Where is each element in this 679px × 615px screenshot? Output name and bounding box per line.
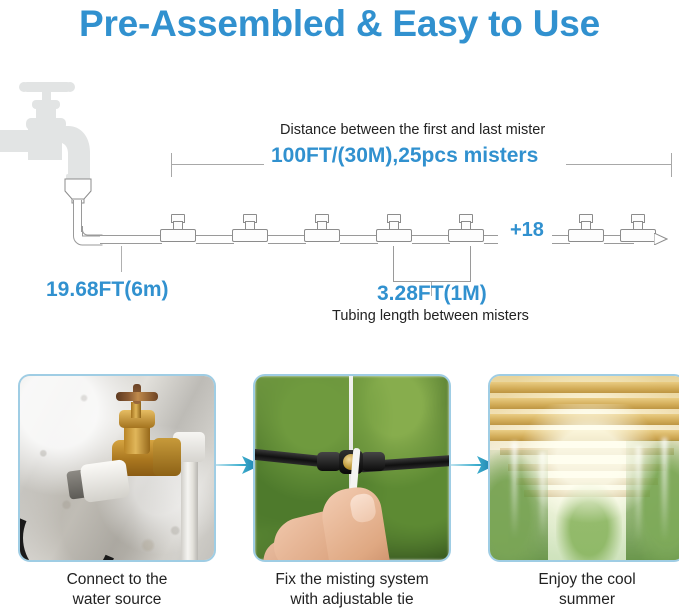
extra-misters-label: +18 [510,219,544,242]
photo-fix-misting-system [253,374,451,562]
dimension-tick-right [671,153,672,177]
photo-connect-water-source [18,374,216,562]
inlet-length-value: 19.68FT(6m) [46,278,169,302]
step-caption-3: Enjoy the cool summer [488,570,679,610]
dimension-tick-left [171,153,172,177]
mister-nozzle [568,212,604,242]
steps-row: Connect to the water source [0,374,679,615]
dimension-line-right [566,164,672,165]
step-caption-2-line1: Fix the misting system [253,570,451,590]
leader-line-left [121,246,122,272]
mister-nozzle [448,212,484,242]
mister-spacing-value: 3.28FT(1M) [377,282,487,306]
mister-nozzle [304,212,340,242]
mister-nozzle [376,212,412,242]
tube-segment [268,235,306,244]
step-caption-2: Fix the misting system with adjustable t… [253,570,451,610]
photo-enjoy-cool-summer [488,374,679,562]
step-card-3: Enjoy the cool summer [488,374,679,562]
mister-nozzle [160,212,196,242]
tube-elbow [69,226,103,250]
tube-segment [340,235,378,244]
spacing-bracket [393,246,471,282]
tube-segment [196,235,234,244]
mister-nozzle [232,212,268,242]
mister-nozzle [620,212,656,242]
misting-system-diagram: +18 Distance between the first and last … [0,60,679,360]
tube-segment [412,235,450,244]
dimension-line-left [171,164,264,165]
step-caption-3-line1: Enjoy the cool [488,570,679,590]
top-dimension-value: 100FT/(30M),25pcs misters [271,144,538,168]
faucet-icon [0,82,112,212]
tube-end-cap-icon [654,233,668,245]
mister-spacing-caption: Tubing length between misters [332,308,529,324]
step-caption-1: Connect to the water source [18,570,216,610]
step-card-1: Connect to the water source [18,374,216,562]
product-infographic: Pre-Assembled & Easy to Use [0,0,679,615]
tube-segment [100,235,162,244]
tube-segment [484,235,498,244]
step-caption-1-line1: Connect to the [18,570,216,590]
step-caption-2-line2: with adjustable tie [253,590,451,610]
step-card-2: Fix the misting system with adjustable t… [253,374,451,562]
top-dimension-caption: Distance between the first and last mist… [280,122,545,138]
step-caption-3-line2: summer [488,590,679,610]
page-title: Pre-Assembled & Easy to Use [0,0,679,48]
step-caption-1-line2: water source [18,590,216,610]
